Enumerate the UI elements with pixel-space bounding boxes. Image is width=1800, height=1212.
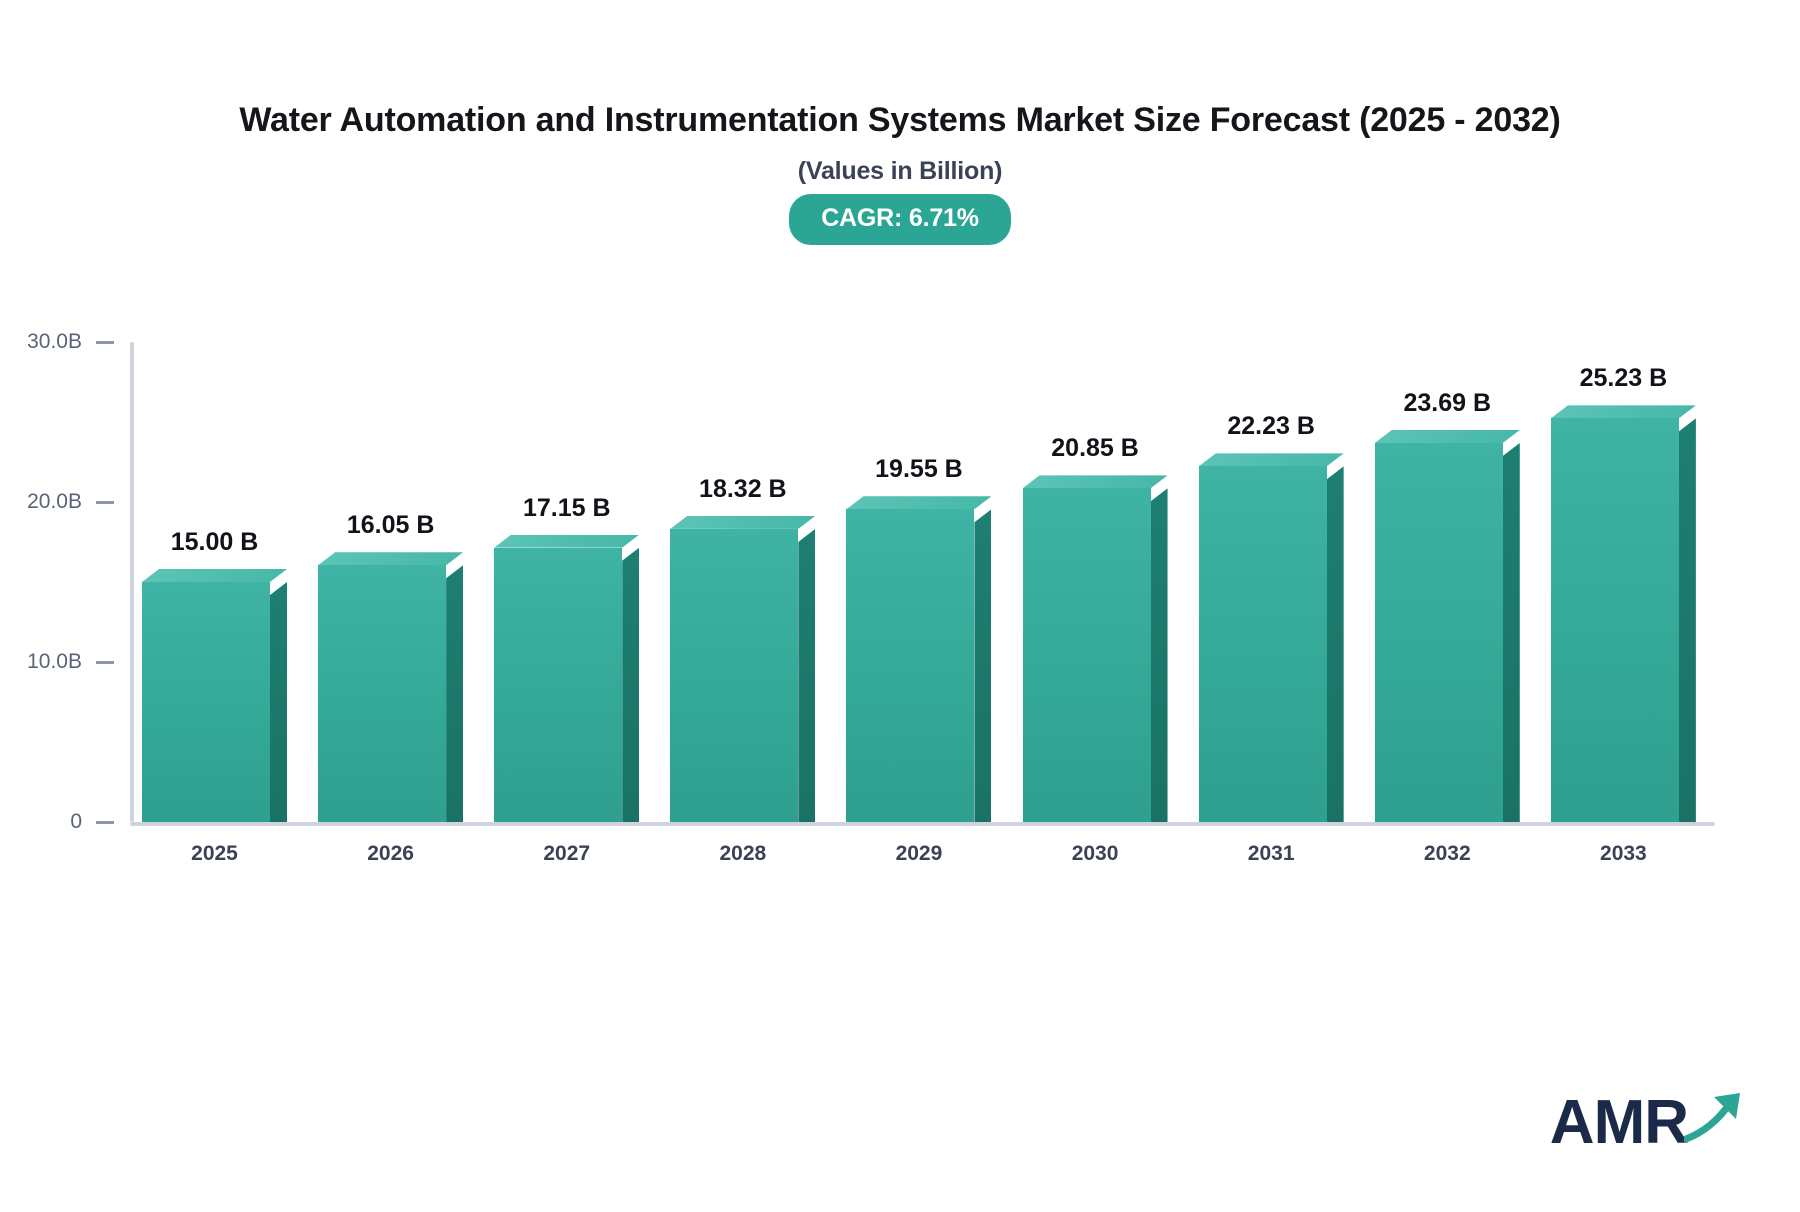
bar-front-face [1199, 466, 1327, 822]
bar-side-face [1503, 443, 1520, 822]
y-axis-tick: 20.0B [0, 490, 126, 514]
bar-side-face [974, 509, 991, 822]
bar-front-face [670, 529, 798, 822]
bar-front-face [1375, 443, 1503, 822]
bar-item[interactable] [318, 552, 463, 822]
bar-top-face [1199, 453, 1344, 466]
y-axis-tick: 30.0B [0, 330, 126, 354]
bar-side-face [1327, 466, 1344, 822]
bar-3d-body [318, 552, 463, 822]
bar-top-face [494, 535, 639, 548]
y-axis-tick-dash [96, 501, 114, 504]
amr-logo: AMR [1550, 1089, 1748, 1154]
bar-item[interactable] [142, 569, 287, 822]
bar-side-face [1151, 488, 1168, 822]
bar-3d-body [142, 569, 287, 822]
bar-side-face [622, 548, 639, 822]
y-axis-tick-label: 0 [70, 810, 82, 833]
x-axis-line [130, 822, 1715, 826]
bar-item[interactable] [494, 535, 639, 822]
bar-top-face [1375, 430, 1520, 443]
y-axis-tick-label: 30.0B [27, 330, 82, 353]
bar-top-face [1023, 475, 1168, 488]
x-axis-tick-label: 2033 [1493, 842, 1753, 866]
bar-top-face [846, 496, 991, 509]
plot-area: 15.00 B16.05 B17.15 B18.32 B19.55 B20.85… [130, 342, 1715, 822]
bar-side-face [1679, 418, 1696, 822]
bar-top-face [1551, 405, 1696, 418]
bar-top-face [318, 552, 463, 565]
bar-3d-body [670, 516, 815, 822]
bar-front-face [1551, 418, 1679, 822]
y-axis-tick-dash [96, 341, 114, 344]
y-axis-tick-label: 20.0B [27, 490, 82, 513]
bar-top-face [670, 516, 815, 529]
bar-side-face [270, 582, 287, 822]
bar-side-face [798, 529, 815, 822]
bar-item[interactable] [1551, 405, 1696, 822]
chart-title: Water Automation and Instrumentation Sys… [120, 0, 1680, 141]
bar-3d-body [1199, 453, 1344, 822]
bar-front-face [1023, 488, 1151, 822]
cagr-badge: CAGR: 6.71% [789, 194, 1011, 245]
chart-subtitle: (Values in Billion) [0, 157, 1800, 186]
bar-series: 15.00 B16.05 B17.15 B18.32 B19.55 B20.85… [130, 342, 1715, 822]
y-axis-tick: 0 [0, 810, 126, 834]
bar-3d-body [494, 535, 639, 822]
bar-3d-body [1551, 405, 1696, 822]
bar-3d-body [1375, 430, 1520, 822]
bar-front-face [318, 565, 446, 822]
bar-front-face [142, 582, 270, 822]
bar-value-label: 25.23 B [1493, 364, 1753, 393]
bar-front-face [494, 548, 622, 822]
bar-3d-body [1023, 475, 1168, 822]
bar-item[interactable] [846, 496, 991, 822]
bar-item[interactable] [1199, 453, 1344, 822]
y-axis-tick-dash [96, 821, 114, 824]
bar-item[interactable] [1375, 430, 1520, 822]
y-axis-tick-label: 10.0B [27, 650, 82, 673]
bar-top-face [142, 569, 287, 582]
bar-item[interactable] [670, 516, 815, 822]
bar-side-face [446, 565, 463, 822]
y-axis-tick-dash [96, 661, 114, 664]
bar-3d-body [846, 496, 991, 822]
bar-front-face [846, 509, 974, 822]
chart-page: Water Automation and Instrumentation Sys… [0, 0, 1800, 1212]
y-axis-tick: 10.0B [0, 650, 126, 674]
growth-arrow-icon [1684, 1089, 1748, 1148]
bar-item[interactable] [1023, 475, 1168, 822]
amr-logo-text: AMR [1550, 1092, 1688, 1154]
chart-header: Water Automation and Instrumentation Sys… [0, 0, 1800, 245]
